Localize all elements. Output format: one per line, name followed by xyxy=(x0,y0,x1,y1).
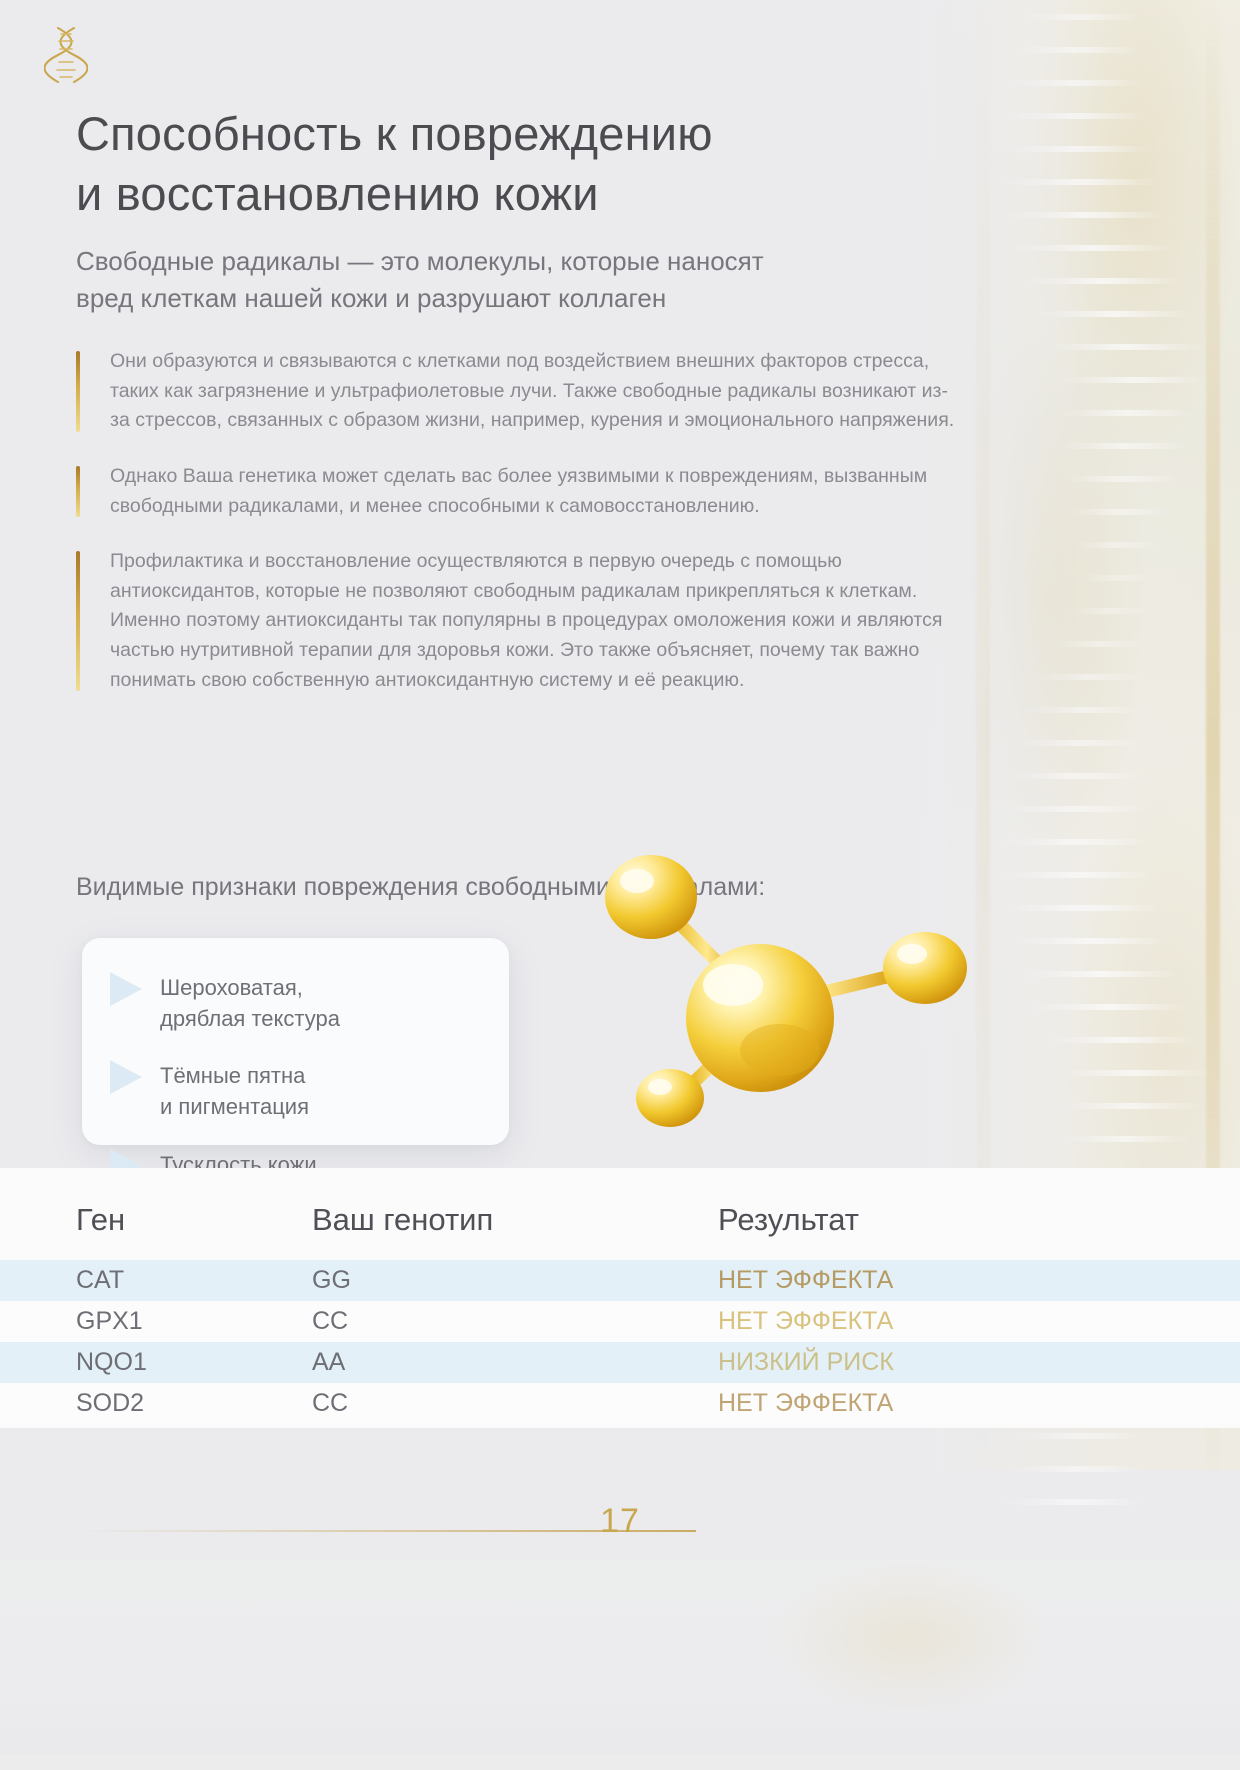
table-cell-genotype: CC xyxy=(312,1389,718,1418)
dna-rung xyxy=(1027,1004,1188,1010)
paragraph-text: Профилактика и восстановление осуществля… xyxy=(110,547,956,695)
table-header-gene: Ген xyxy=(0,1202,312,1238)
page-subtitle: Свободные радикалы — это молекулы, котор… xyxy=(76,243,956,317)
table-row: SOD2CCНЕТ ЭФФЕКТА xyxy=(0,1383,1240,1424)
table-cell-genotype: GG xyxy=(312,1266,718,1295)
gold-accent-bar xyxy=(76,466,80,517)
table-header-row: Ген Ваш генотип Результат xyxy=(0,1168,1240,1260)
dna-rung xyxy=(1061,377,1207,383)
dna-rung xyxy=(1061,443,1187,449)
visible-signs-card: Шероховатая, дряблая текстура Тёмные пят… xyxy=(82,938,509,1145)
table-cell-gene: NQO1 xyxy=(0,1348,312,1377)
dna-rung xyxy=(1049,344,1203,350)
dna-helix-logo xyxy=(44,24,88,86)
page-title-line-2: и восстановлению кожи xyxy=(76,167,599,220)
dna-rung xyxy=(995,113,1147,119)
gold-accent-bar xyxy=(76,551,80,691)
list-item-line-1: Шероховатая, xyxy=(160,975,303,1000)
paragraph-block: Они образуются и связываются с клетками … xyxy=(76,347,956,436)
dna-rung xyxy=(1059,1070,1209,1076)
table-row: NQO1AAНИЗКИЙ РИСК xyxy=(0,1342,1240,1383)
table-cell-gene: GPX1 xyxy=(0,1307,312,1336)
table-header-genotype: Ваш генотип xyxy=(312,1202,718,1238)
dna-rung xyxy=(1033,311,1192,317)
table-body: CATGGНЕТ ЭФФЕКТАGPX1CCНЕТ ЭФФЕКТАNQO1AAН… xyxy=(0,1260,1240,1424)
dna-rung xyxy=(1015,1433,1140,1439)
triangle-bullet-icon xyxy=(110,1060,142,1094)
dna-rung xyxy=(1080,575,1155,581)
gold-molecule-illustration xyxy=(565,835,1015,1155)
page-title: Способность к повреждению и восстановлен… xyxy=(76,104,976,224)
dna-rung xyxy=(1005,1466,1141,1472)
list-item-label: Шероховатая, дряблая текстура xyxy=(160,972,340,1034)
list-item-line-1: Тёмные пятна xyxy=(160,1063,305,1088)
dna-rung xyxy=(1010,740,1140,746)
table-cell-genotype: AA xyxy=(312,1348,718,1377)
results-table: Ген Ваш генотип Результат CATGGНЕТ ЭФФЕК… xyxy=(0,1168,1240,1428)
page-subtitle-line-2: вред клеткам нашей кожи и разрушают колл… xyxy=(76,283,666,313)
list-item: Тёмные пятна и пигментация xyxy=(110,1060,309,1122)
triangle-bullet-icon xyxy=(110,972,142,1006)
page-subtitle-line-1: Свободные радикалы — это молекулы, котор… xyxy=(76,246,764,276)
dna-rung xyxy=(1005,938,1170,944)
dna-rung xyxy=(1060,410,1197,416)
table-cell-genotype: CC xyxy=(312,1307,718,1336)
list-item-line-2: дряблая текстура xyxy=(160,1006,340,1031)
page-number: 17 xyxy=(0,1502,1240,1541)
dna-rung xyxy=(1020,278,1183,284)
table-cell-gene: SOD2 xyxy=(0,1389,312,1418)
dna-rung xyxy=(1009,245,1174,251)
gold-accent-bar xyxy=(76,351,80,432)
table-row: CATGGНЕТ ЭФФЕКТА xyxy=(0,1260,1240,1301)
dna-rung xyxy=(1006,47,1141,53)
table-cell-gene: CAT xyxy=(0,1266,312,1295)
table-cell-result: НИЗКИЙ РИСК xyxy=(718,1348,894,1377)
dna-rung xyxy=(1042,1037,1198,1043)
report-page: Способность к повреждению и восстановлен… xyxy=(0,0,1240,1754)
paragraph-block: Профилактика и восстановление осуществля… xyxy=(76,547,956,695)
table-cell-result: НЕТ ЭФФЕКТА xyxy=(718,1307,893,1336)
list-item-label: Тёмные пятна и пигментация xyxy=(160,1060,309,1122)
list-item-line-2: и пигментация xyxy=(160,1094,309,1119)
page-bottom-area xyxy=(0,1560,1240,1754)
dna-rung xyxy=(1002,773,1142,779)
paragraph-block: Однако Ваша генетика может сделать вас б… xyxy=(76,462,956,521)
dna-rung xyxy=(1067,509,1169,515)
dna-rung xyxy=(1069,608,1148,614)
dna-rung xyxy=(994,146,1152,152)
dna-rung xyxy=(1073,542,1161,548)
dna-rung xyxy=(1060,1103,1201,1109)
bottom-glow xyxy=(700,1550,1120,1770)
table-row: GPX1CCНЕТ ЭФФЕКТА xyxy=(0,1301,1240,1342)
dna-rung xyxy=(1060,1136,1191,1142)
paragraph-text: Они образуются и связываются с клетками … xyxy=(110,347,956,436)
dna-rung xyxy=(996,806,1145,812)
dna-rung xyxy=(1051,641,1144,647)
dna-rung xyxy=(1016,14,1140,20)
dna-rung xyxy=(996,179,1158,185)
dna-rung xyxy=(994,872,1155,878)
page-title-line-1: Способность к повреждению xyxy=(76,107,713,160)
dna-rung xyxy=(1063,476,1178,482)
dna-rung xyxy=(1022,707,1141,713)
dna-rung xyxy=(999,80,1143,86)
table-header-result: Результат xyxy=(718,1202,859,1238)
dna-rung xyxy=(1015,971,1179,977)
list-item: Шероховатая, дряблая текстура xyxy=(110,972,340,1034)
table-cell-result: НЕТ ЭФФЕКТА xyxy=(718,1389,893,1418)
dna-rung xyxy=(1035,674,1141,680)
paragraph-text: Однако Ваша генетика может сделать вас б… xyxy=(110,462,956,521)
paragraph-blocks: Они образуются и связываются с клетками … xyxy=(76,347,956,721)
table-cell-result: НЕТ ЭФФЕКТА xyxy=(718,1266,893,1295)
dna-rung xyxy=(1001,212,1166,218)
dna-rung xyxy=(998,905,1162,911)
dna-rung xyxy=(994,839,1150,845)
